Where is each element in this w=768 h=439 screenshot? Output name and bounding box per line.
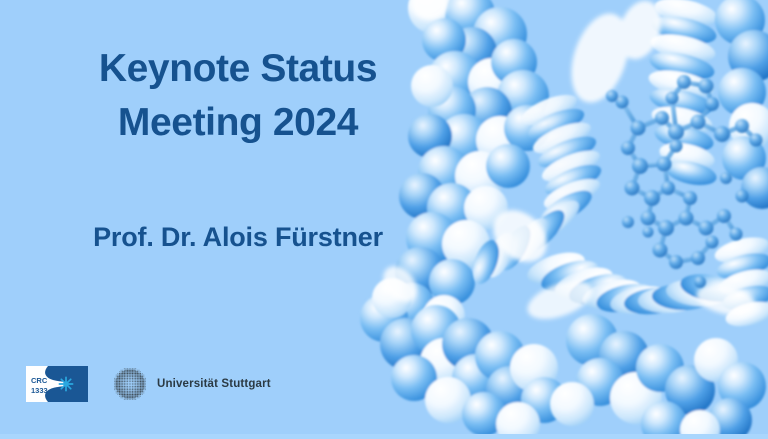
crc-star-icon	[59, 377, 72, 390]
uni-stuttgart-wordmark: Universität Stuttgart	[157, 378, 271, 390]
slide-content: Keynote Status Meeting 2024 Prof. Dr. Al…	[0, 0, 768, 439]
presentation-slide: Keynote Status Meeting 2024 Prof. Dr. Al…	[0, 0, 768, 439]
speaker-name: Prof. Dr. Alois Fürstner	[38, 218, 438, 256]
subtitle-line-1: Prof. Dr. Alois Fürstner	[38, 218, 438, 256]
page-title: Keynote Status Meeting 2024	[38, 42, 438, 150]
title-line-2: Meeting 2024	[38, 96, 438, 150]
crc-1333-logo: CRC 1333	[26, 366, 88, 402]
uni-stuttgart-dot-mark	[112, 366, 148, 402]
crc-logo-line1: CRC	[31, 376, 48, 385]
crc-logo-line2: 1333	[31, 386, 48, 395]
logo-bar: CRC 1333	[26, 366, 271, 402]
title-line-1: Keynote Status	[38, 42, 438, 96]
bottom-edge-strip	[0, 434, 768, 439]
universitaet-stuttgart-logo: Universität Stuttgart	[112, 366, 271, 402]
